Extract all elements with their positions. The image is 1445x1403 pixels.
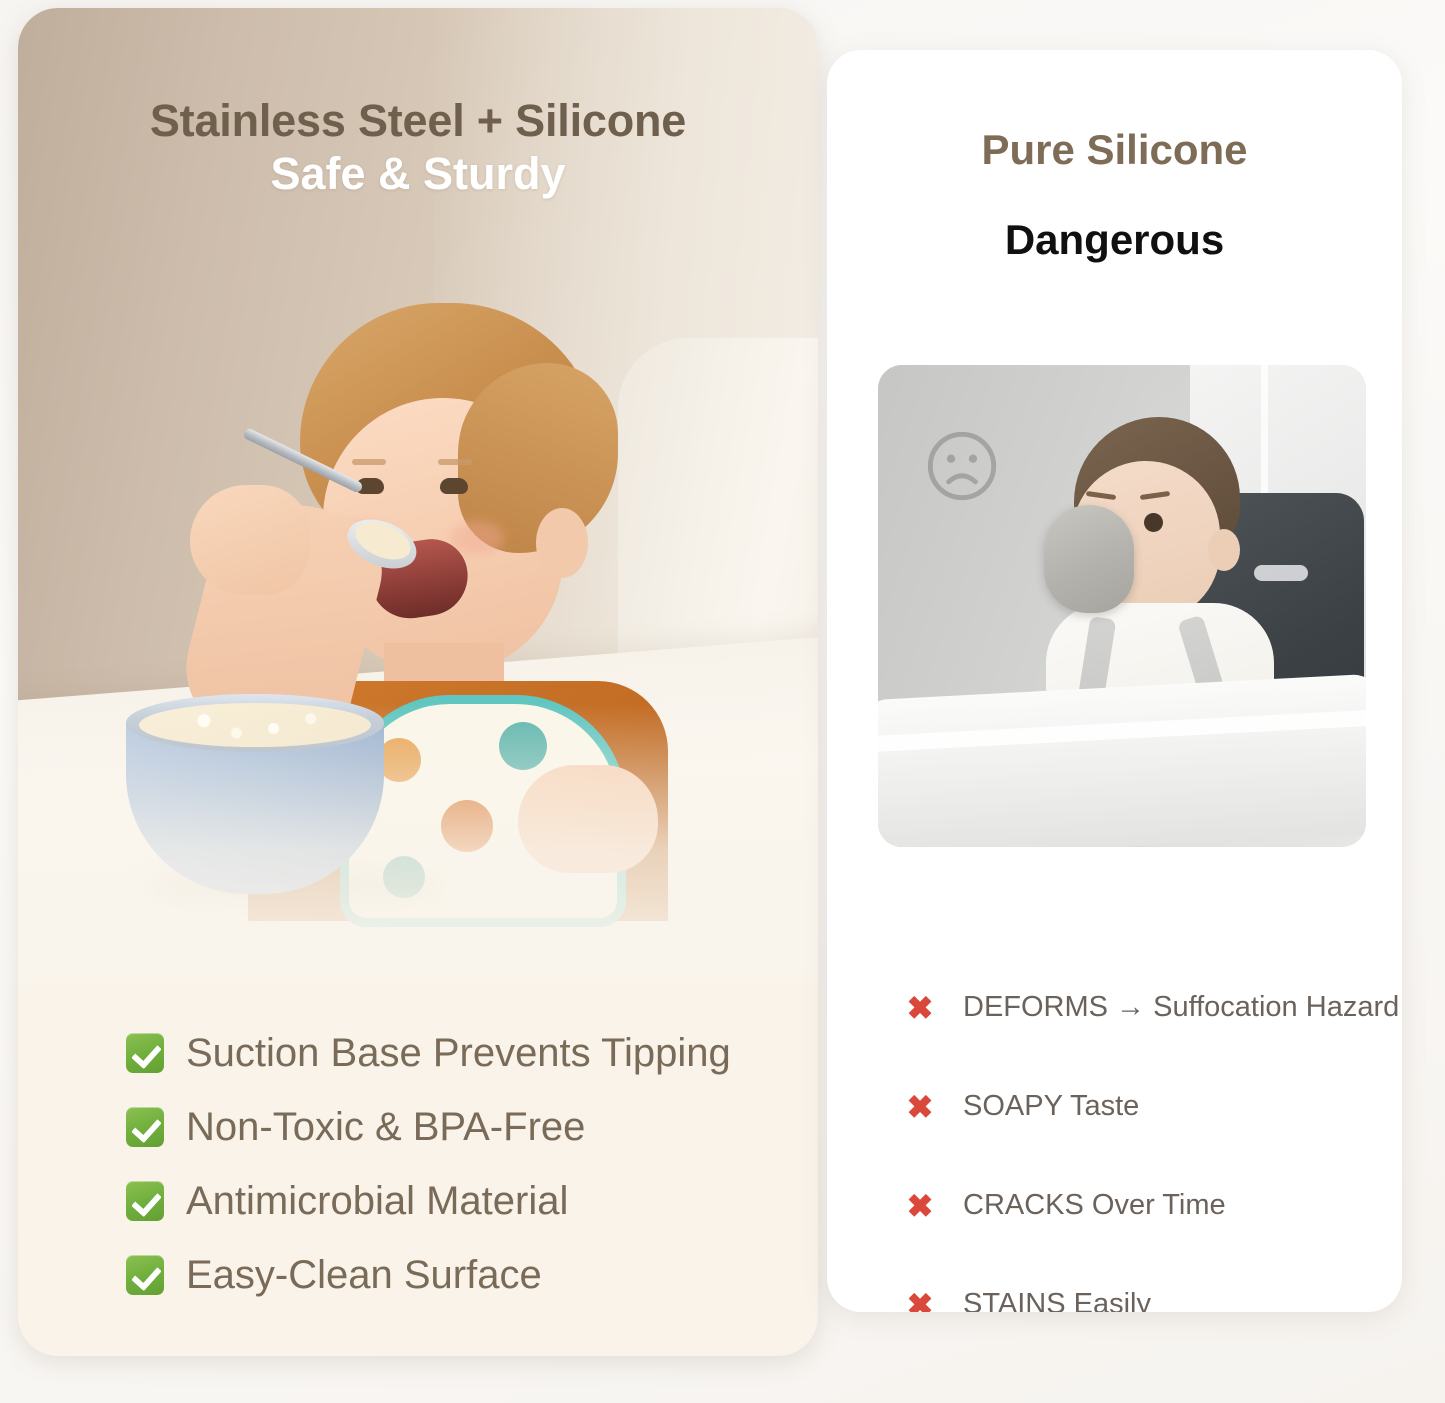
bad-headline-line1: Pure Silicone	[827, 128, 1402, 172]
photo-bottom-fade	[18, 703, 818, 983]
child-eyebrow-right	[438, 459, 472, 465]
bad-headline: Pure Silicone Dangerous	[827, 128, 1402, 262]
check-box-icon	[126, 1181, 164, 1221]
x-mark-icon: ✖	[905, 1091, 935, 1123]
check-box-icon	[126, 1033, 164, 1073]
x-mark-icon: ✖	[905, 992, 935, 1024]
child-hand-holding-spoon	[190, 485, 310, 595]
con-label: CRACKS Over Time	[963, 1189, 1226, 1222]
child-ear	[536, 508, 588, 578]
con-label: DEFORMS → Suffocation Hazard	[963, 991, 1399, 1024]
x-mark-icon: ✖	[905, 1190, 935, 1222]
high-chair-label	[1254, 565, 1308, 581]
good-headline-line2: Safe & Sturdy	[18, 147, 818, 200]
good-product-card: Stainless Steel + Silicone Safe & Sturdy…	[18, 8, 818, 1356]
pro-label: Antimicrobial Material	[186, 1179, 568, 1224]
con-list-item: ✖ SOAPY Taste	[905, 1057, 1388, 1156]
pro-list-item: Antimicrobial Material	[126, 1164, 798, 1238]
pro-list-item: Suction Base Prevents Tipping	[126, 1016, 798, 1090]
con-list-item: ✖ CRACKS Over Time	[905, 1156, 1388, 1255]
check-box-icon	[126, 1107, 164, 1147]
con-label: SOAPY Taste	[963, 1090, 1139, 1123]
cons-list: ✖ DEFORMS → Suffocation Hazard ✖ SOAPY T…	[905, 958, 1388, 1312]
pro-label: Easy-Clean Surface	[186, 1253, 542, 1298]
bad-product-card: Pure Silicone Dangerous	[827, 50, 1402, 1312]
con-list-item: ✖ STAINS Easily	[905, 1255, 1388, 1312]
check-box-icon	[126, 1255, 164, 1295]
sad-face-icon	[923, 427, 1001, 505]
good-headline: Stainless Steel + Silicone Safe & Sturdy	[18, 94, 818, 200]
baby-ear	[1208, 529, 1240, 571]
con-list-item: ✖ DEFORMS → Suffocation Hazard	[905, 958, 1388, 1057]
child-eyebrow-left	[352, 459, 386, 465]
pros-list: Suction Base Prevents Tipping Non-Toxic …	[126, 1016, 798, 1312]
high-chair-tray	[878, 673, 1366, 847]
bad-headline-line2: Dangerous	[827, 218, 1402, 262]
comparison-infographic: Stainless Steel + Silicone Safe & Sturdy…	[0, 0, 1445, 1403]
pro-list-item: Non-Toxic & BPA-Free	[126, 1090, 798, 1164]
x-mark-icon: ✖	[905, 1289, 935, 1313]
good-headline-line1: Stainless Steel + Silicone	[18, 94, 818, 147]
con-label: STAINS Easily	[963, 1288, 1151, 1312]
pro-list-item: Easy-Clean Surface	[126, 1238, 798, 1312]
baby-eye-right	[1144, 513, 1163, 532]
silicone-bowl-on-face	[1044, 505, 1134, 613]
pro-label: Non-Toxic & BPA-Free	[186, 1105, 585, 1150]
child-eye-right	[440, 478, 468, 494]
pro-label: Suction Base Prevents Tipping	[186, 1031, 731, 1076]
bad-product-photo	[878, 365, 1366, 847]
